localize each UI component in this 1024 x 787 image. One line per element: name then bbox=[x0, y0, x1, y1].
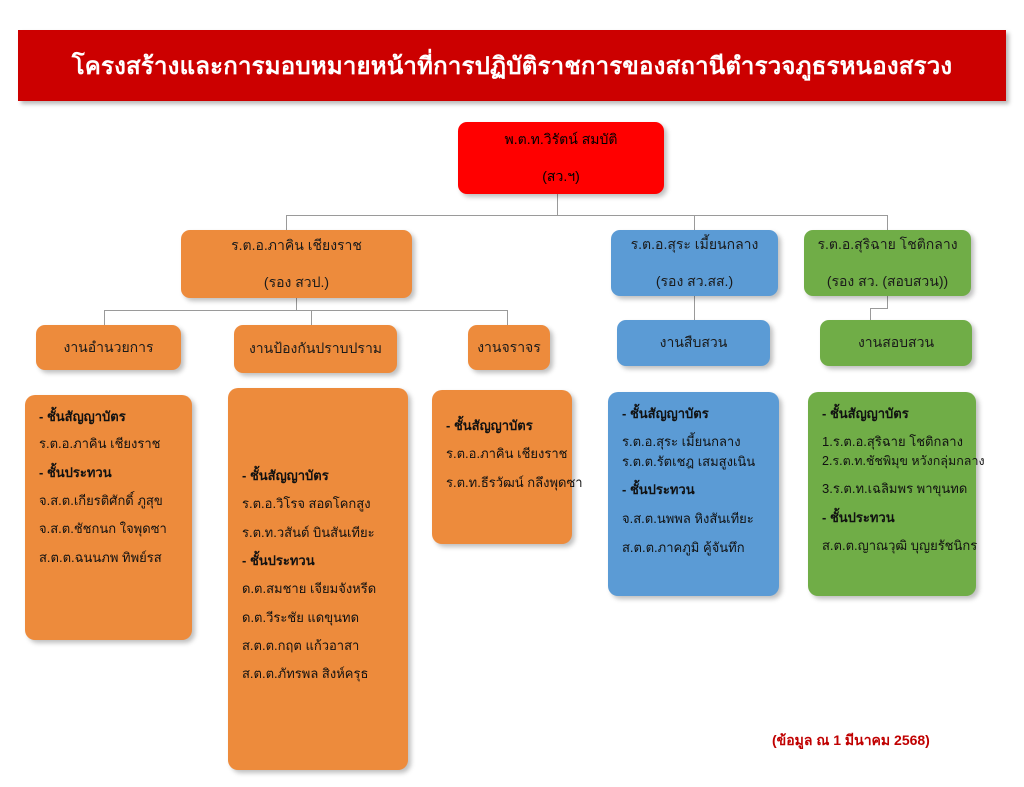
roster-row: ด.ต.วีระชัย แดขุนทด bbox=[242, 610, 396, 625]
node-station-chief-name: พ.ต.ท.วิรัตน์ สมบัติ bbox=[505, 131, 618, 148]
roster-row: ด.ต.สมชาย เจียมจังหรีด bbox=[242, 581, 396, 596]
connector-drop-section-administration bbox=[104, 310, 105, 325]
roster-row: ร.ต.อ.ภาคิน เชียงราช bbox=[39, 436, 180, 451]
org-chart-page: โครงสร้างและการมอบหมายหน้าที่การปฏิบัติร… bbox=[0, 0, 1024, 787]
roster-row: ส.ต.ต.กฤต แก้วอาสา bbox=[242, 638, 396, 653]
connector-root-stem bbox=[557, 194, 558, 216]
node-deputy-prevention-name: ร.ต.อ.ภาคิน เชียงราช bbox=[231, 237, 362, 254]
roster-row: - ชั้นสัญญาบัตร bbox=[822, 406, 964, 421]
roster-row: - ชั้นสัญญาบัตร bbox=[39, 409, 180, 424]
roster-row: ส.ต.ต.ญาณวุฒิ บุญยรัชนิกร bbox=[822, 538, 964, 553]
section-header-administration[interactable]: งานอำนวยการ bbox=[36, 325, 181, 370]
roster-row: ส.ต.ต.ภัทรพล สิงห์ครุธ bbox=[242, 666, 396, 681]
connector-drop-section-investigation bbox=[694, 296, 695, 320]
roster-row: ส.ต.ต.ฉนนภพ ทิพย์รส bbox=[39, 550, 180, 565]
roster-panel-administration: - ชั้นสัญญาบัตร ร.ต.อ.ภาคิน เชียงราช - ช… bbox=[25, 395, 192, 640]
connector-deputy-bus bbox=[286, 215, 887, 216]
node-deputy-inquiry-name: ร.ต.อ.สุริฉาย โชติกลาง bbox=[817, 236, 957, 253]
roster-row: 1.ร.ต.อ.สุริฉาย โชติกลาง bbox=[822, 434, 964, 449]
connector-drop-section-traffic bbox=[507, 310, 508, 325]
node-station-chief-role: (สว.ฯ) bbox=[542, 168, 579, 185]
connector-drop-deputy-investigation bbox=[694, 215, 695, 230]
roster-row: - ชั้นประทวน bbox=[622, 482, 767, 497]
roster-row: ร.ต.อ.สุระ เมี้ยนกลาง bbox=[622, 434, 767, 449]
data-as-of-note: (ข้อมูล ณ 1 มีนาคม 2568) bbox=[772, 730, 930, 752]
node-deputy-prevention-role: (รอง สวป.) bbox=[264, 274, 329, 291]
connector-drop-section-inquiry bbox=[887, 296, 888, 308]
roster-row: - ชั้นสัญญาบัตร bbox=[622, 406, 767, 421]
section-header-prevention-label: งานป้องกันปราบปราม bbox=[249, 338, 382, 360]
roster-panel-traffic: - ชั้นสัญญาบัตร ร.ต.อ.ภาคิน เชียงราช ร.ต… bbox=[432, 390, 572, 544]
roster-panel-inquiry: - ชั้นสัญญาบัตร 1.ร.ต.อ.สุริฉาย โชติกลาง… bbox=[808, 392, 976, 596]
page-title: โครงสร้างและการมอบหมายหน้าที่การปฏิบัติร… bbox=[72, 46, 953, 85]
roster-row: ร.ต.ต.รัตเชฎ เสมสูงเนิน bbox=[622, 454, 767, 469]
node-deputy-prevention[interactable]: ร.ต.อ.ภาคิน เชียงราช (รอง สวป.) bbox=[181, 230, 412, 298]
node-deputy-investigation[interactable]: ร.ต.อ.สุระ เมี้ยนกลาง (รอง สว.สส.) bbox=[611, 230, 778, 296]
section-header-inquiry-label: งานสอบสวน bbox=[858, 332, 934, 354]
connector-prevention-bus bbox=[104, 310, 507, 311]
section-header-administration-label: งานอำนวยการ bbox=[63, 337, 153, 359]
node-deputy-inquiry[interactable]: ร.ต.อ.สุริฉาย โชติกลาง (รอง สว. (สอบสวน)… bbox=[804, 230, 971, 296]
roster-panel-investigation: - ชั้นสัญญาบัตร ร.ต.อ.สุระ เมี้ยนกลาง ร.… bbox=[608, 392, 779, 596]
roster-row: ส.ต.ต.ภาคภูมิ คู้จันทึก bbox=[622, 540, 767, 555]
roster-row: ร.ต.ท.วสันต์ บินสันเทียะ bbox=[242, 525, 396, 540]
roster-row: - ชั้นสัญญาบัตร bbox=[242, 468, 396, 483]
roster-row: - ชั้นประทวน bbox=[39, 465, 180, 480]
roster-panel-prevention: - ชั้นสัญญาบัตร ร.ต.อ.วิโรจ สอดโคกสูง ร.… bbox=[228, 388, 408, 770]
section-header-investigation[interactable]: งานสืบสวน bbox=[617, 320, 770, 366]
connector-prevention-stem bbox=[296, 298, 297, 310]
roster-row: ร.ต.อ.ภาคิน เชียงราช bbox=[446, 446, 560, 461]
section-header-investigation-label: งานสืบสวน bbox=[660, 332, 728, 354]
connector-drop-deputy-prevention bbox=[286, 215, 287, 230]
connector-inquiry-drop2 bbox=[870, 308, 871, 320]
connector-drop-deputy-inquiry bbox=[887, 215, 888, 230]
roster-row: - ชั้นสัญญาบัตร bbox=[446, 418, 560, 433]
roster-row: 2.ร.ต.ท.ชัชพิมุข หวังกลุ่มกลาง bbox=[822, 454, 964, 469]
node-deputy-inquiry-role: (รอง สว. (สอบสวน)) bbox=[827, 273, 948, 290]
roster-row: จ.ส.ต.ชัชกนก ใจพุดซา bbox=[39, 521, 180, 536]
node-deputy-investigation-name: ร.ต.อ.สุระ เมี้ยนกลาง bbox=[631, 236, 759, 253]
section-header-traffic-label: งานจราจร bbox=[477, 337, 541, 359]
section-header-prevention[interactable]: งานป้องกันปราบปราม bbox=[234, 325, 397, 373]
section-header-traffic[interactable]: งานจราจร bbox=[468, 325, 550, 370]
roster-row: ร.ต.ท.ธีรวัฒน์ กลึงพุดซา bbox=[446, 475, 560, 490]
roster-row: จ.ส.ต.นพพล หิงสันเทียะ bbox=[622, 511, 767, 526]
connector-inquiry-bend bbox=[870, 308, 888, 309]
roster-row: 3.ร.ต.ท.เฉลิมพร พาขุนทด bbox=[822, 481, 964, 496]
roster-row: - ชั้นประทวน bbox=[822, 510, 964, 525]
node-deputy-investigation-role: (รอง สว.สส.) bbox=[656, 273, 733, 290]
section-header-inquiry[interactable]: งานสอบสวน bbox=[820, 320, 972, 366]
roster-row: ร.ต.อ.วิโรจ สอดโคกสูง bbox=[242, 496, 396, 511]
connector-drop-section-prevention bbox=[311, 310, 312, 325]
node-station-chief[interactable]: พ.ต.ท.วิรัตน์ สมบัติ (สว.ฯ) bbox=[458, 122, 664, 194]
roster-row: จ.ส.ต.เกียรติศักดิ์ ภูสุข bbox=[39, 493, 180, 508]
roster-row: - ชั้นประทวน bbox=[242, 553, 396, 568]
page-title-banner: โครงสร้างและการมอบหมายหน้าที่การปฏิบัติร… bbox=[18, 30, 1006, 101]
